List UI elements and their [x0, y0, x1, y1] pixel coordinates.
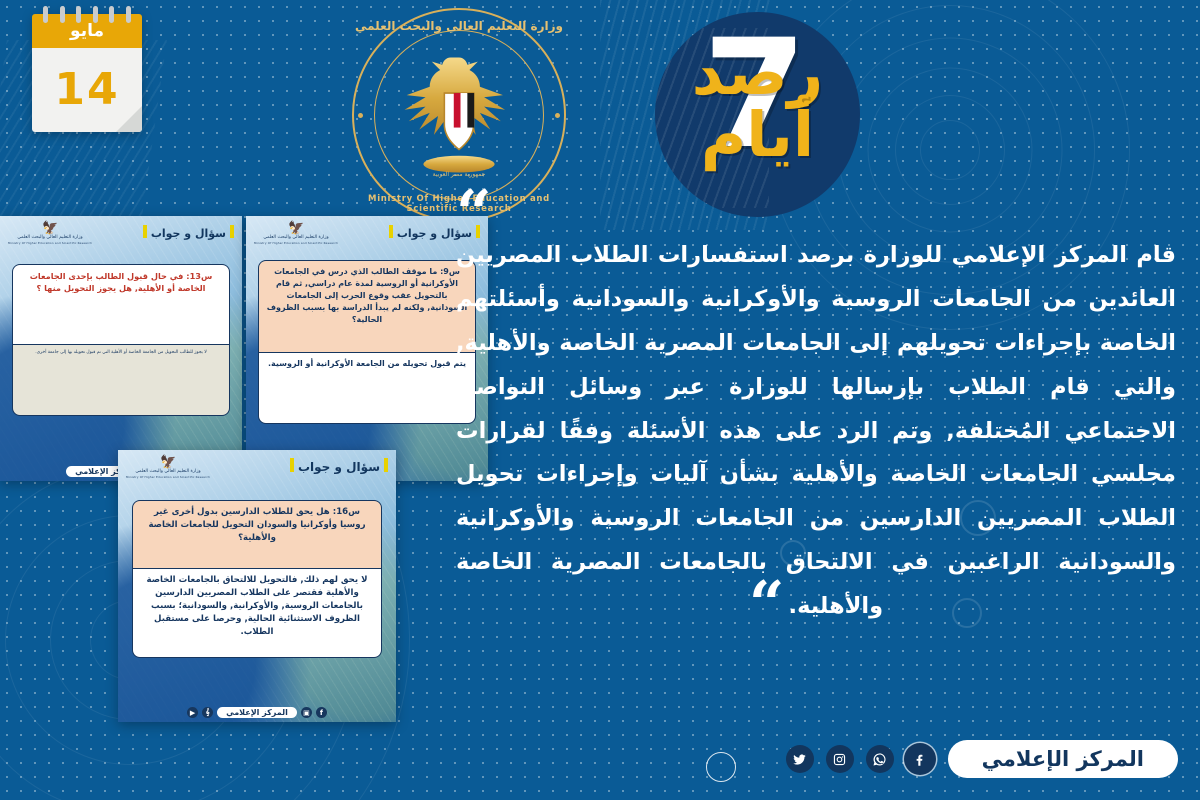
card-header: سؤال و جواب 🦅 وزارة التعليم العالي والبح…: [246, 216, 488, 244]
calendar-day: 14: [54, 68, 119, 112]
calendar-page-fold: [116, 106, 142, 132]
play-icon[interactable]: ▶: [187, 707, 198, 718]
twitter-icon[interactable]: 𝄞: [202, 707, 213, 718]
card-header-label: سؤال و جواب: [143, 227, 234, 240]
card-ministry-logo: 🦅 وزارة التعليم العالي والبحث العلمي Min…: [126, 456, 210, 478]
card-media-center-label: المركز الإعلامي: [217, 707, 297, 718]
facebook-icon[interactable]: f: [316, 707, 327, 718]
card-ministry-arabic: وزارة التعليم العالي والبحث العلمي: [17, 236, 82, 241]
ministry-logo-dot-left: [358, 113, 363, 118]
quote-body-text: قام المركز الإعلامي للوزارة برصد استفسار…: [456, 234, 1176, 629]
decorative-circle-outline: [706, 752, 736, 782]
ministry-name-arabic: وزارة التعليم العالي والبحث العلمي: [352, 19, 566, 33]
qa-card-collage: سؤال و جواب 🦅 وزارة التعليم العالي والبح…: [0, 216, 480, 746]
instagram-icon[interactable]: [826, 745, 854, 773]
card-ministry-english: Ministry Of Higher Education and Scienti…: [8, 242, 92, 245]
card-ministry-logo: 🦅 وزارة التعليم العالي والبحث العلمي Min…: [8, 222, 92, 244]
card-answer: يتم قبول تحويله من الجامعة الأوكرانية أو…: [258, 352, 476, 424]
egypt-eagle-crest: [392, 48, 526, 182]
card-ministry-arabic: وزارة التعليم العالي والبحث العلمي: [135, 470, 200, 475]
card-question: س9: ما موقف الطالب الذي درس في الجامعات …: [258, 260, 476, 352]
rasd-ayam-brand-logo: 7 رصد أيام: [655, 12, 860, 217]
quote-paragraph: قام المركز الإعلامي للوزارة برصد استفسار…: [456, 242, 1176, 619]
quote-block: “ قام المركز الإعلامي للوزارة برصد استفس…: [456, 196, 1176, 629]
instagram-icon[interactable]: ▣: [301, 707, 312, 718]
qa-card[interactable]: سؤال و جواب 🦅 وزارة التعليم العالي والبح…: [246, 216, 488, 481]
footer-bar: المركز الإعلامي: [786, 740, 1178, 778]
facebook-icon[interactable]: [906, 745, 934, 773]
rasd-word-bottom: أيام: [701, 104, 814, 166]
card-header: سؤال و جواب 🦅 وزارة التعليم العالي والبح…: [0, 216, 242, 244]
qa-card[interactable]: سؤال و جواب 🦅 وزارة التعليم العالي والبح…: [118, 450, 396, 722]
card-question: س16: هل يحق للطلاب الدارسين بدول أخرى غي…: [132, 500, 382, 568]
card-ministry-english: Ministry Of Higher Education and Scienti…: [254, 242, 338, 245]
rasd-word-top: رصد: [692, 42, 823, 104]
twitter-icon[interactable]: [786, 745, 814, 773]
media-center-badge[interactable]: المركز الإعلامي: [948, 740, 1178, 778]
card-ministry-english: Ministry Of Higher Education and Scienti…: [126, 476, 210, 479]
qa-card[interactable]: سؤال و جواب 🦅 وزارة التعليم العالي والبح…: [0, 216, 242, 481]
card-answer: لا يحق لهم ذلك, فالتحويل للالتحاق بالجام…: [132, 568, 382, 658]
card-ministry-arabic: وزارة التعليم العالي والبحث العلمي: [263, 236, 328, 241]
quote-open-mark: “: [456, 196, 1176, 230]
card-question: س13: في حال قبول الطالب بإحدى الجامعات ا…: [12, 264, 230, 344]
card-header: سؤال و جواب 🦅 وزارة التعليم العالي والبح…: [118, 450, 396, 478]
social-links: [786, 745, 934, 773]
quote-close-mark: “: [749, 587, 785, 621]
calendar-widget: مايو 14: [32, 14, 142, 132]
whatsapp-icon[interactable]: [866, 745, 894, 773]
calendar-body: 14: [32, 48, 142, 132]
card-ministry-logo: 🦅 وزارة التعليم العالي والبحث العلمي Min…: [254, 222, 338, 244]
card-header-label: سؤال و جواب: [290, 460, 388, 474]
card-answer: لا يجوز للطالب التحويل من الجامعة الخاصة…: [12, 344, 230, 416]
card-social-bar: f ▣ المركز الإعلامي 𝄞 ▶: [118, 707, 396, 718]
calendar-spiral-rings: [32, 6, 142, 22]
ministry-logo-dot-right: [555, 113, 560, 118]
